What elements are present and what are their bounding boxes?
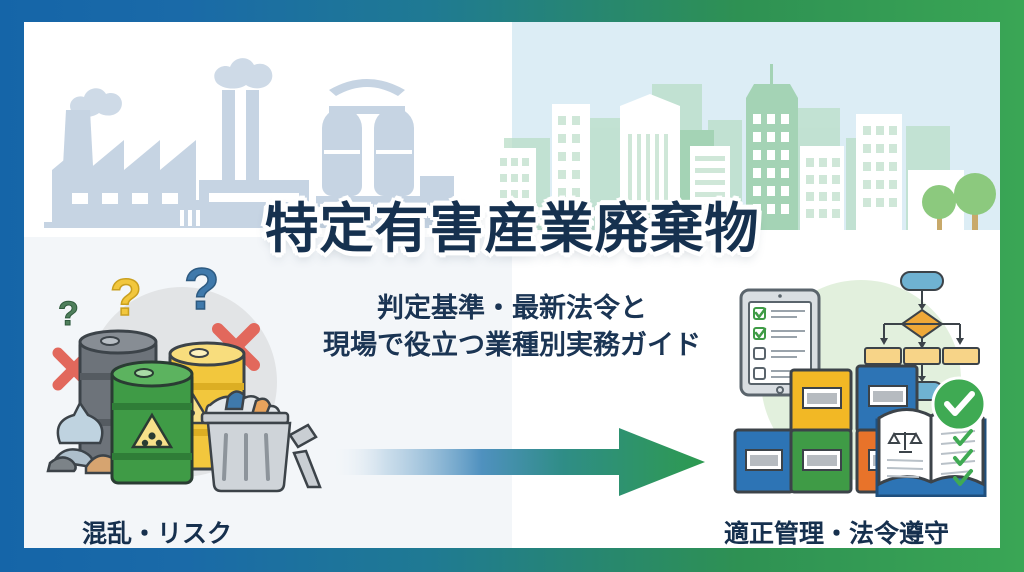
compliance-illustration bbox=[729, 262, 994, 497]
check-badge-icon bbox=[933, 378, 985, 430]
transition-arrow bbox=[329, 422, 709, 502]
svg-text:?: ? bbox=[184, 267, 219, 322]
poster-frame: 特定有害産業廃棄物 判定基準・最新法令と 現場で役立つ業種別実務ガイド bbox=[0, 0, 1024, 572]
page-title: 特定有害産業廃棄物 bbox=[24, 202, 1000, 256]
poster-inner-panel: 特定有害産業廃棄物 判定基準・最新法令と 現場で役立つ業種別実務ガイド bbox=[24, 22, 1000, 548]
svg-text:?: ? bbox=[58, 295, 79, 333]
drum-icon bbox=[791, 430, 851, 492]
caption-left: 混乱・リスク bbox=[82, 514, 232, 548]
hazardous-waste-illustration: ? ? ? bbox=[42, 267, 322, 497]
svg-text:?: ? bbox=[110, 269, 142, 327]
subtitle-line-1: 判定基準・最新法令と bbox=[323, 290, 701, 327]
drum-icon bbox=[735, 430, 793, 492]
drum-icon bbox=[112, 362, 192, 483]
trash-bin-icon bbox=[202, 391, 320, 491]
caption-right: 適正管理・法令遵守 bbox=[724, 514, 949, 548]
subtitle-line-2: 現場で役立つ業種別実務ガイド bbox=[323, 327, 701, 364]
page-subtitle: 判定基準・最新法令と 現場で役立つ業種別実務ガイド bbox=[323, 290, 701, 363]
drum-icon bbox=[791, 370, 851, 432]
